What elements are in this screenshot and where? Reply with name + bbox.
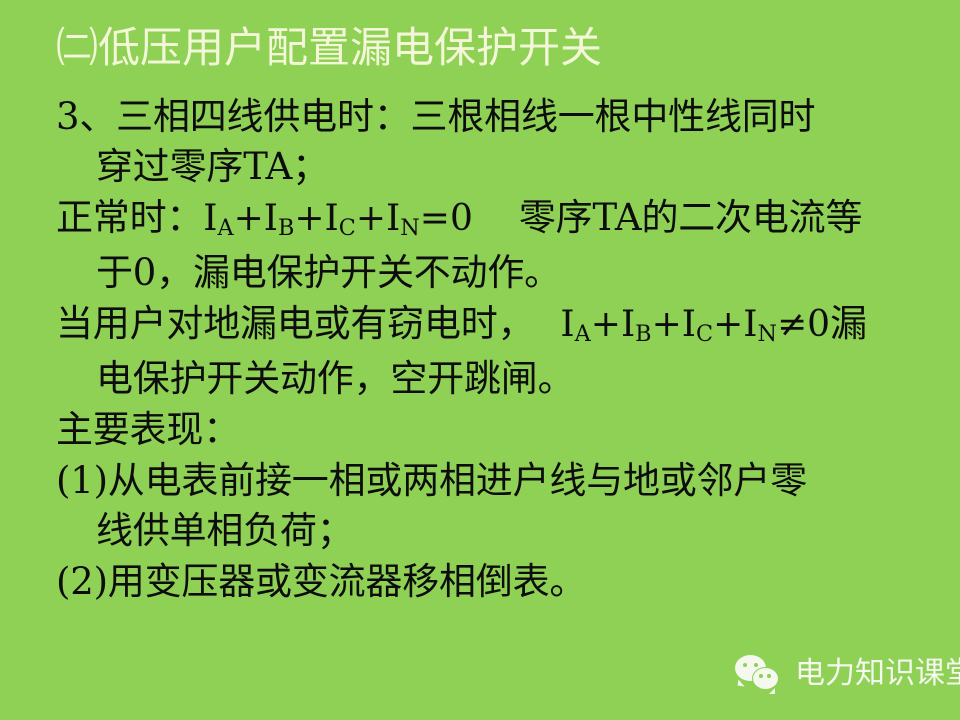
bubble-small-eye-right bbox=[767, 674, 771, 678]
formula-value: 0 bbox=[450, 198, 473, 239]
plus-3: + bbox=[713, 304, 743, 345]
plus-2: + bbox=[652, 304, 682, 345]
plus-2: + bbox=[294, 198, 324, 239]
body-paragraph-1: 3、三相四线供电时：三根相线一根中性线同时 穿过零序TA； bbox=[56, 92, 952, 192]
body-paragraph-3: 当用户对地漏电或有窃电时，IA+IB+IC+IN≠0漏 电保护开关动作，空开跳闸… bbox=[56, 299, 952, 404]
plus-1: + bbox=[234, 198, 264, 239]
subscript-n: N bbox=[757, 321, 777, 347]
formula-normal-condition: IA+IB+IC+IN=0 bbox=[203, 198, 473, 239]
wechat-icon bbox=[735, 654, 785, 694]
paragraph-6-lead: (2)用变压器或变流器移相倒表。 bbox=[56, 560, 586, 603]
paragraph-2-lead: 正常时：IA+IB+IC+IN=0零序TA的二次电流等 bbox=[56, 196, 862, 239]
subscript-n: N bbox=[400, 215, 420, 241]
plus-1: + bbox=[591, 304, 621, 345]
paragraph-2-suffix: 零序TA的二次电流等 bbox=[519, 196, 862, 239]
subscript-a: A bbox=[575, 321, 591, 347]
relation-equals: = bbox=[420, 198, 450, 239]
paragraph-5-continuation: 线供单相负荷； bbox=[96, 509, 354, 552]
body-paragraph-2: 正常时：IA+IB+IC+IN=0零序TA的二次电流等 于0，漏电保护开关不动作… bbox=[56, 193, 952, 298]
subscript-c: C bbox=[696, 321, 713, 347]
bubble-large-eye-right bbox=[754, 663, 758, 667]
paragraph-3-prefix: 当用户对地漏电或有窃电时， bbox=[56, 302, 534, 345]
paragraph-1-lead: 3、三相四线供电时：三根相线一根中性线同时 bbox=[56, 95, 815, 138]
paragraph-2-continuation: 于0，漏电保护开关不动作。 bbox=[96, 251, 561, 294]
paragraph-3-lead: 当用户对地漏电或有窃电时，IA+IB+IC+IN≠0漏 bbox=[56, 302, 867, 345]
formula-value: 0 bbox=[807, 304, 830, 345]
current-in: I bbox=[386, 198, 400, 239]
body-paragraph-4: 主要表现： bbox=[56, 405, 952, 455]
bubble-large-eye-left bbox=[743, 663, 747, 667]
watermark: 电力知识课堂 bbox=[735, 648, 950, 700]
page-title: ㈡低压用户配置漏电保护开关 bbox=[56, 22, 936, 74]
formula-leakage-condition: IA+IB+IC+IN≠0 bbox=[560, 304, 830, 345]
subscript-a: A bbox=[217, 215, 233, 241]
current-ic: I bbox=[325, 198, 339, 239]
current-ic: I bbox=[682, 304, 696, 345]
subscript-c: C bbox=[339, 215, 356, 241]
current-ia: I bbox=[203, 198, 217, 239]
slide-body: 3、三相四线供电时：三根相线一根中性线同时 穿过零序TA； 正常时：IA+IB+… bbox=[56, 92, 952, 608]
current-ib: I bbox=[621, 304, 635, 345]
subscript-b: B bbox=[278, 215, 294, 241]
current-ib: I bbox=[264, 198, 278, 239]
relation-not-equals: ≠ bbox=[777, 304, 807, 345]
paragraph-5-lead: (1)从电表前接一相或两相进户线与地或邻户零 bbox=[56, 459, 807, 502]
wechat-bubble-small bbox=[752, 667, 779, 690]
body-paragraph-6: (2)用变压器或变流器移相倒表。 bbox=[56, 557, 952, 607]
paragraph-2-prefix: 正常时： bbox=[56, 196, 203, 239]
paragraph-1-continuation: 穿过零序TA； bbox=[96, 145, 329, 188]
current-ia: I bbox=[560, 304, 574, 345]
subscript-b: B bbox=[635, 321, 651, 347]
bubble-small-eye-left bbox=[759, 674, 763, 678]
paragraph-3-suffix: 漏 bbox=[830, 302, 867, 345]
body-paragraph-5: (1)从电表前接一相或两相进户线与地或邻户零 线供单相负荷； bbox=[56, 456, 952, 556]
paragraph-4-lead: 主要表现： bbox=[56, 408, 240, 451]
paragraph-3-continuation: 电保护开关动作，空开跳闸。 bbox=[96, 357, 574, 400]
current-in: I bbox=[743, 304, 757, 345]
plus-3: + bbox=[356, 198, 386, 239]
watermark-label: 电力知识课堂 bbox=[795, 657, 960, 691]
slide-canvas: ㈡低压用户配置漏电保护开关 3、三相四线供电时：三根相线一根中性线同时 穿过零序… bbox=[0, 0, 960, 720]
